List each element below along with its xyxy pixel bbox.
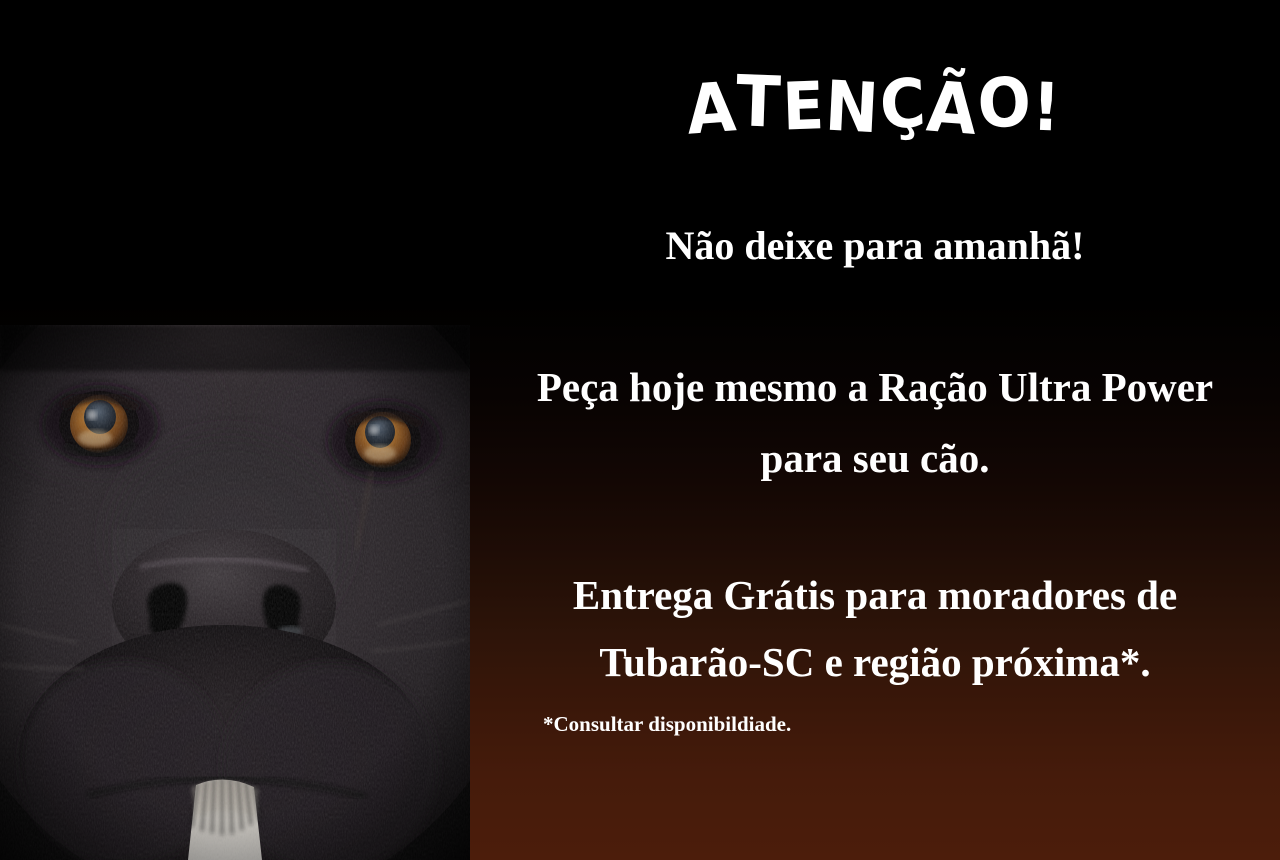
urgency-line: Não deixe para amanhã! <box>470 222 1280 270</box>
product-offer-line: Peça hoje mesmo a Ração Ultra Power para… <box>515 352 1235 493</box>
poster: ATENÇÃO! Não deixe para amanhã! Peça hoj… <box>0 0 1280 860</box>
footnote-disclaimer: *Consultar disponibildiade. <box>543 712 1243 737</box>
dog-photo <box>0 325 470 860</box>
dog-photo-illustration <box>0 325 470 860</box>
delivery-line: Entrega Grátis para moradores de Tubarão… <box>490 562 1260 696</box>
copy-column: ATENÇÃO! Não deixe para amanhã! Peça hoj… <box>470 0 1280 860</box>
page-title: ATENÇÃO! <box>470 72 1280 139</box>
